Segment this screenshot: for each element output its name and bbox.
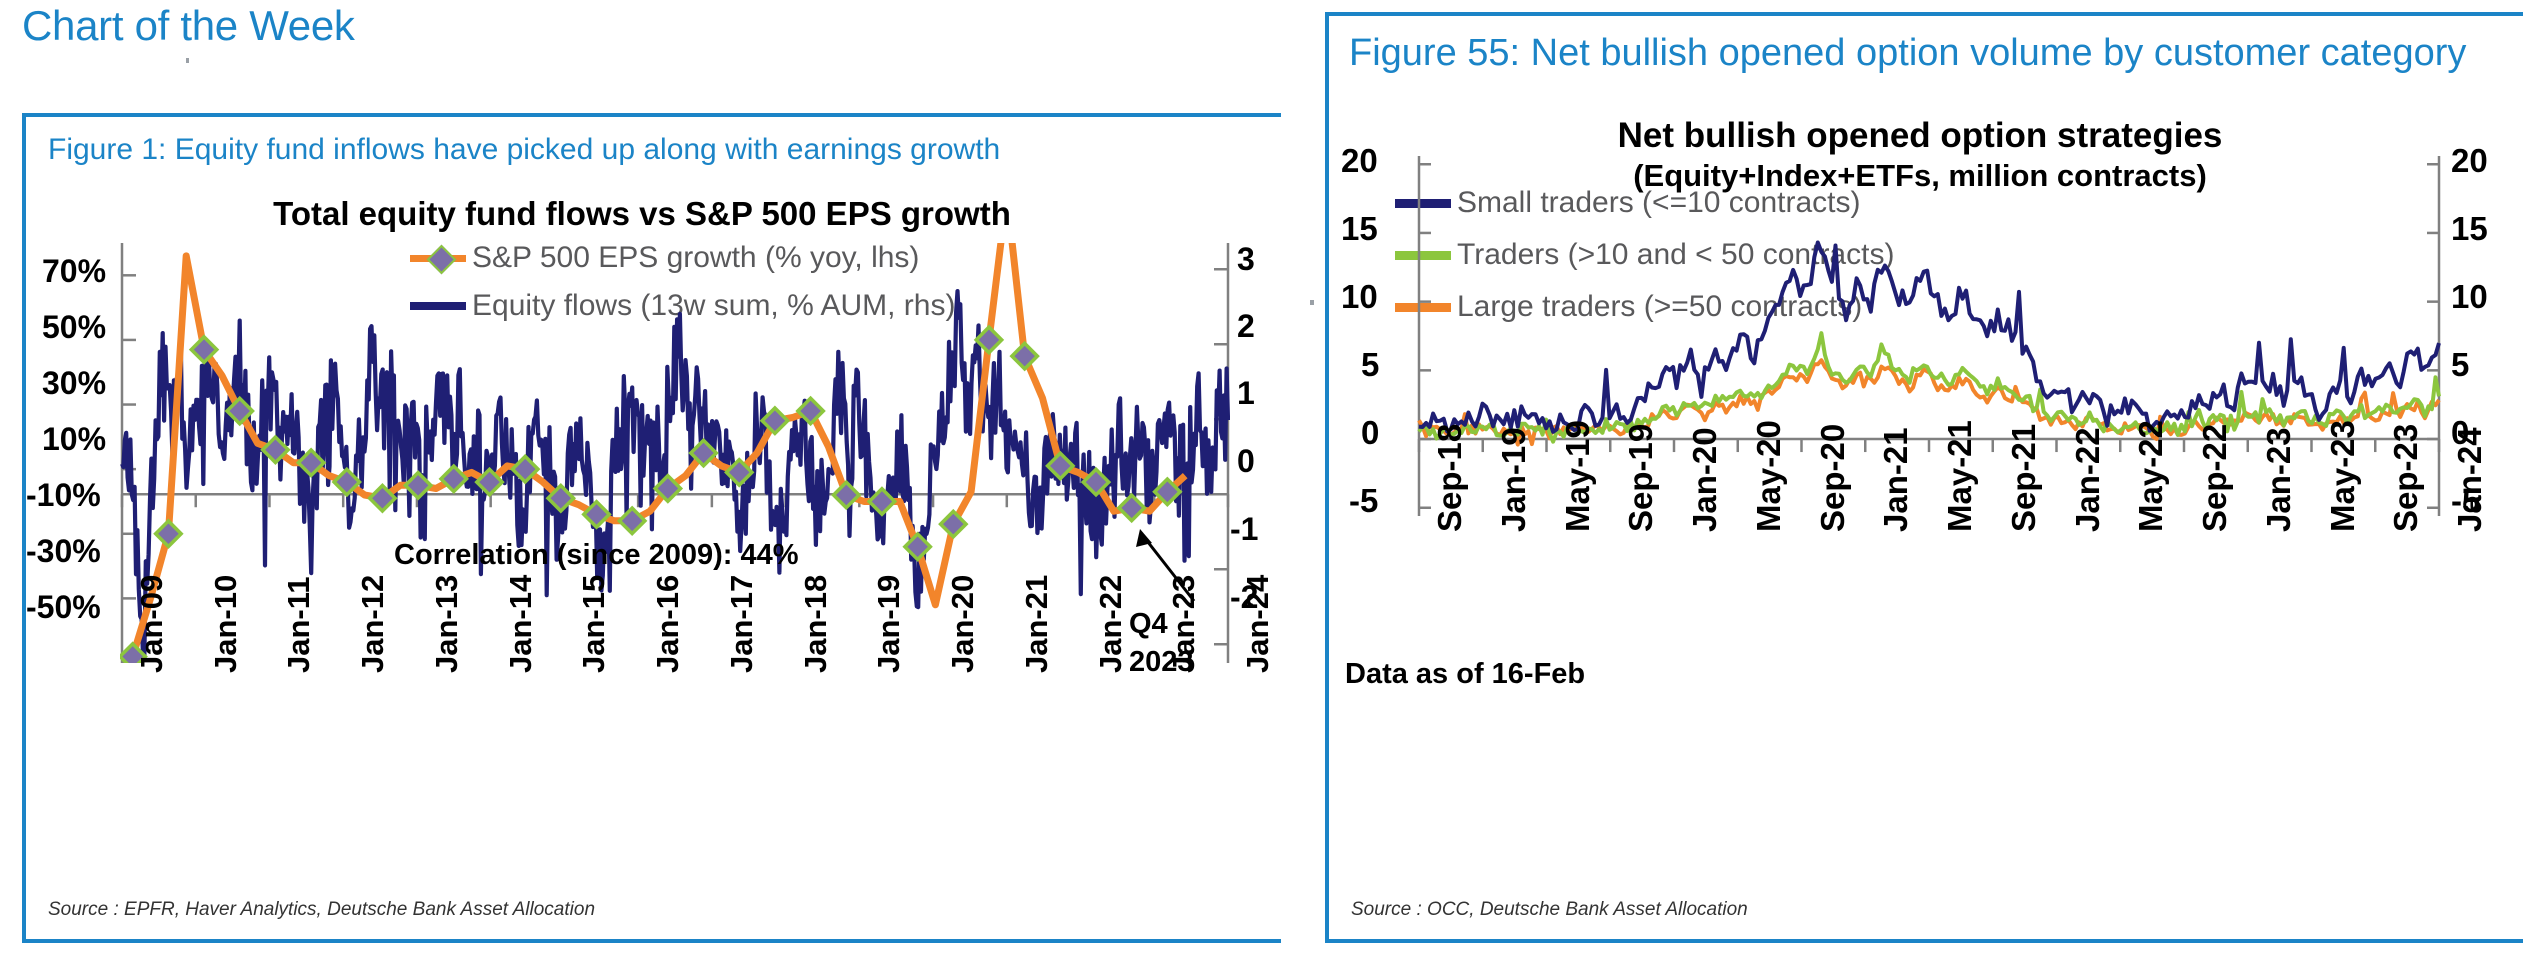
chart-55-ylabel-left-0: 20 — [1341, 142, 1378, 180]
chart-1-ylabel-right-3: 0 — [1237, 443, 1255, 480]
figure-1-top-rule — [22, 113, 1281, 117]
figure-1-source: Source : EPFR, Haver Analytics, Deutsche… — [48, 899, 595, 921]
chart-55-xlabel-9: Sep-21 — [2005, 424, 2043, 532]
chart-1-xlabel-8: Jan-17 — [724, 575, 760, 673]
chart-1-ylabel-left-2: 30% — [42, 365, 106, 402]
chart-55-xlabel-0: Sep-18 — [1431, 424, 1469, 532]
figure-55-top-rule — [1325, 12, 2523, 16]
chart-1-ylabel-left-1: 50% — [42, 309, 106, 346]
chart-1-xlabel-15: Jan-24 — [1240, 575, 1276, 673]
chart-1-ylabel-left-4: -10% — [26, 477, 101, 514]
chart-55-ylabel-right-2: 10 — [2451, 278, 2488, 316]
chart-1-xlabel-5: Jan-14 — [503, 575, 539, 673]
chart-55-xlabel-10: Jan-22 — [2069, 427, 2107, 532]
chart-55-xlabel-13: Jan-23 — [2260, 427, 2298, 532]
decorative-dot — [186, 58, 189, 63]
chart-1-ylabel-right-0: 3 — [1237, 241, 1255, 278]
left-panel: Chart of the Week Figure 1: Equity fund … — [0, 0, 1300, 953]
figure-1-caption: Figure 1: Equity fund inflows have picke… — [48, 133, 1000, 167]
chart-55-xlabel-1: Jan-19 — [1495, 427, 1533, 532]
chart-55-xlabel-3: Sep-19 — [1622, 424, 1660, 532]
right-panel: Figure 55: Net bullish opened option vol… — [1325, 0, 2523, 953]
chart-1-ylabel-left-0: 70% — [42, 253, 106, 290]
chart-1-ylabel-left-5: -30% — [26, 533, 101, 570]
chart-1-ylabel-right-4: -1 — [1230, 511, 1258, 548]
chart-55-xlabel-6: Sep-20 — [1814, 424, 1852, 532]
chart-55-xlabel-5: May-20 — [1750, 420, 1788, 532]
chart-1-ylabel-left-6: -50% — [26, 589, 101, 626]
chart-55-xlabel-12: Sep-22 — [2196, 424, 2234, 532]
chart-55-data-as-of: Data as of 16-Feb — [1345, 658, 1585, 691]
figure-1-bottom-rule — [22, 939, 1281, 943]
chart-55-xlabel-15: Sep-23 — [2387, 424, 2425, 532]
chart-55-xlabel-8: May-21 — [1941, 420, 1979, 532]
figure-55-container: Figure 55: Net bullish opened option vol… — [1325, 12, 2523, 943]
chart-1-xlabel-2: Jan-11 — [281, 576, 317, 673]
chart-55-ylabel-right-1: 15 — [2451, 210, 2488, 248]
figure-55-caption: Figure 55: Net bullish opened option vol… — [1349, 28, 2509, 79]
chart-1-xlabel-4: Jan-13 — [429, 575, 465, 673]
chart-55-ylabel-right-0: 20 — [2451, 142, 2488, 180]
chart-55-ylabel-left-3: 5 — [1361, 346, 1379, 384]
chart-1-xlabel-7: Jan-16 — [650, 575, 686, 673]
figure-55-left-rule — [1325, 12, 1329, 941]
chart-55-ylabel-left-5: -5 — [1349, 482, 1378, 520]
chart-55-xlabel-16: Jan-24 — [2451, 427, 2489, 532]
chart-1-xlabel-11: Jan-20 — [945, 575, 981, 673]
chart-1-xlabel-0: Jan-09 — [134, 575, 170, 673]
chart-1-xlabel-6: Jan-15 — [576, 575, 612, 673]
chart-1-xlabel-12: Jan-21 — [1019, 575, 1055, 673]
chart-55-ylabel-left-2: 10 — [1341, 278, 1378, 316]
chart-55-ylabel-left-1: 15 — [1341, 210, 1378, 248]
chart-1-correlation-note: Correlation (since 2009): 44% — [394, 539, 799, 572]
figure-55-bottom-rule — [1325, 939, 2523, 943]
page-title: Chart of the Week — [22, 2, 355, 50]
chart-1-ylabel-right-2: 1 — [1237, 375, 1255, 412]
chart-55-xlabel-4: Jan-20 — [1686, 427, 1724, 532]
chart-55-ylabel-left-4: 0 — [1361, 414, 1379, 452]
chart-55-ylabel-right-3: 5 — [2451, 346, 2469, 384]
chart-1-title: Total equity fund flows vs S&P 500 EPS g… — [142, 195, 1142, 233]
figure-55-source: Source : OCC, Deutsche Bank Asset Alloca… — [1351, 899, 1748, 921]
chart-1-xlabel-3: Jan-12 — [355, 575, 391, 673]
chart-55-xlabel-2: May-19 — [1559, 420, 1597, 532]
chart-55-xlabel-14: May-23 — [2324, 420, 2362, 532]
chart-55-xlabel-11: May-22 — [2132, 420, 2170, 532]
chart-1-q4-annotation-line2: 2023 — [1129, 646, 1194, 679]
page-root: Chart of the Week Figure 1: Equity fund … — [0, 0, 2523, 953]
figure-1-left-rule — [22, 113, 26, 941]
decorative-dot-2 — [1310, 300, 1314, 305]
chart-1-annotation-arrow-icon — [1122, 523, 1212, 613]
chart-1-xlabel-9: Jan-18 — [798, 575, 834, 673]
chart-1-xlabel-1: Jan-10 — [208, 575, 244, 673]
chart-55-xlabel-7: Jan-21 — [1877, 427, 1915, 532]
chart-55-title-line1: Net bullish opened option strategies — [1385, 116, 2455, 156]
chart-1-ylabel-left-3: 10% — [42, 421, 106, 458]
figure-1-container: Figure 1: Equity fund inflows have picke… — [22, 113, 1303, 943]
chart-1-xlabel-10: Jan-19 — [871, 575, 907, 673]
chart-1-ylabel-right-1: 2 — [1237, 308, 1255, 345]
